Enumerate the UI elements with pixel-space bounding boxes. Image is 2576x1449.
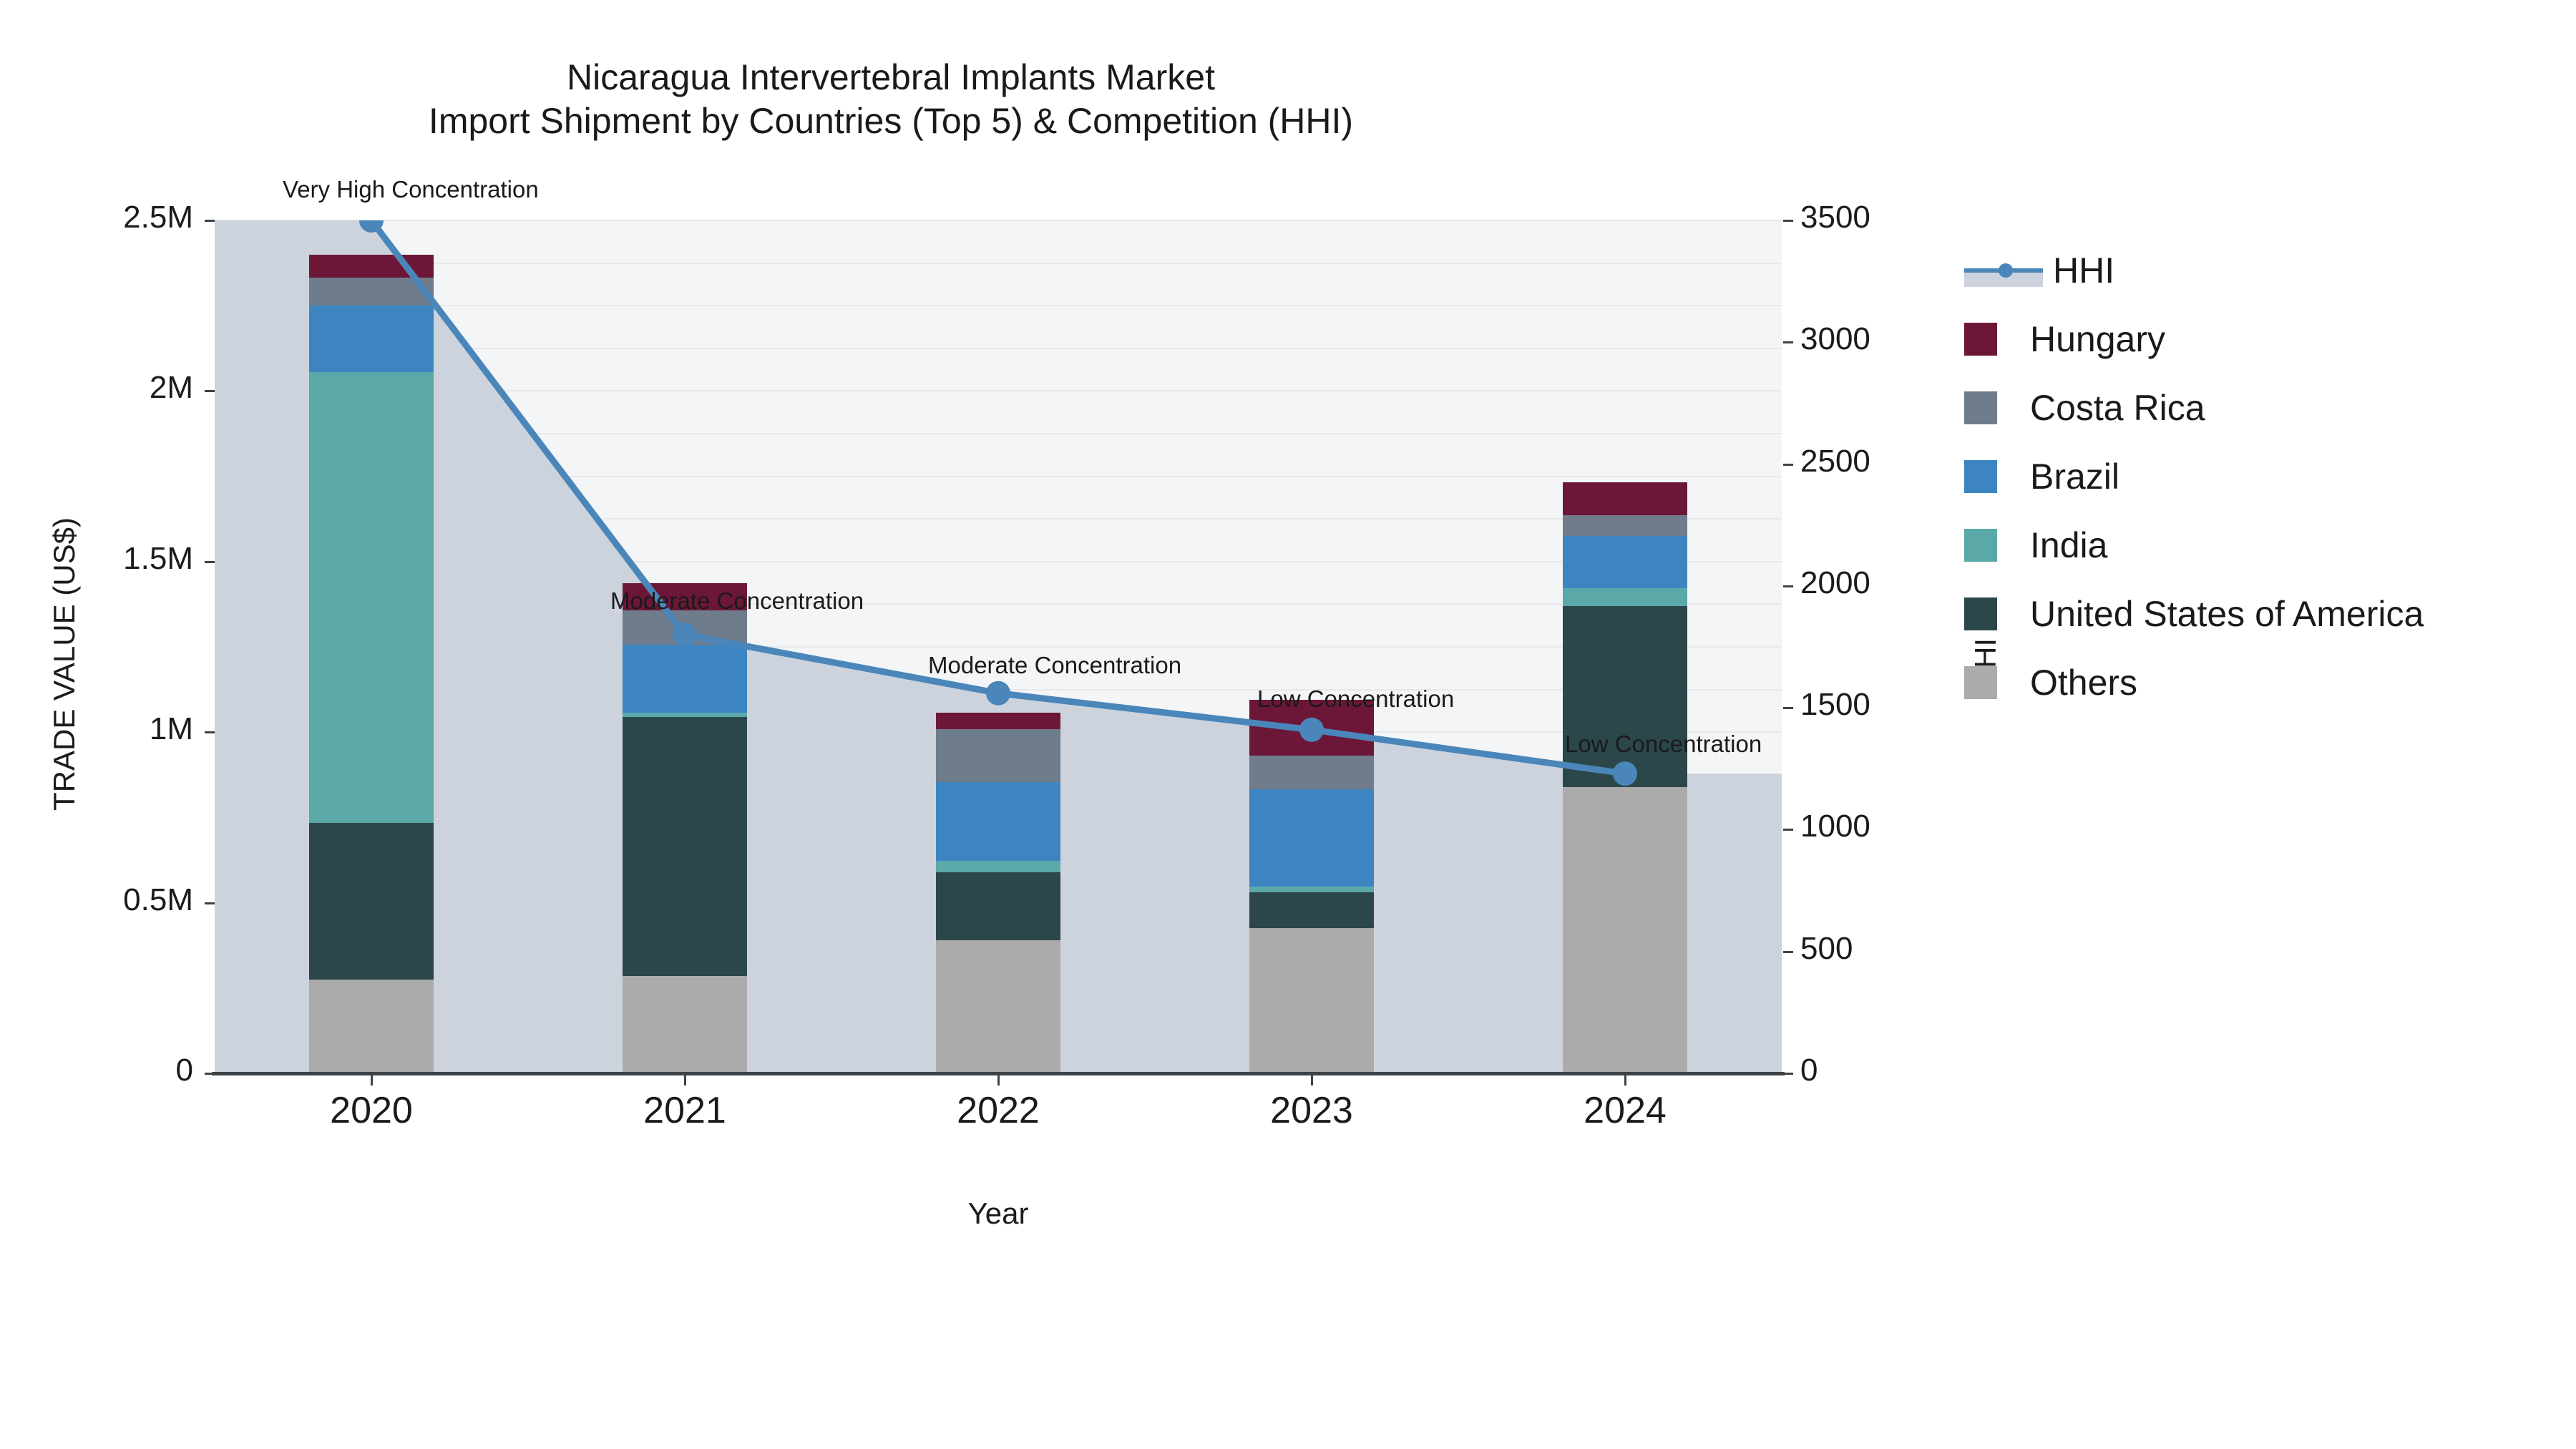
hhi-marker-2022[interactable] <box>986 681 1010 706</box>
y-axis-right-tick-mark <box>1783 585 1793 587</box>
legend-item-united-states-of-america[interactable]: United States of America <box>1964 580 2424 648</box>
y-axis-left-tick-mark <box>205 1073 215 1075</box>
legend-item-label: India <box>2030 525 2107 566</box>
legend-color-swatch-icon <box>1964 323 1997 356</box>
legend-color-swatch-icon <box>1964 460 1997 493</box>
y-axis-right-tick-label: 2000 <box>1800 565 1870 601</box>
y-axis-right-tick-label: 1500 <box>1800 687 1870 723</box>
x-axis-tick-mark <box>1624 1075 1626 1085</box>
chart-legend: HHIHungaryCosta RicaBrazilIndiaUnited St… <box>1964 236 2424 717</box>
y-axis-left-tick-label: 0 <box>29 1053 193 1088</box>
x-axis-tick-label-2023: 2023 <box>1204 1089 1419 1132</box>
annotation-2023: Low Concentration <box>1257 686 1454 713</box>
y-axis-right-tick-label: 2500 <box>1800 444 1870 479</box>
legend-item-label: United States of America <box>2030 593 2424 635</box>
y-axis-left-tick-mark <box>205 561 215 563</box>
hhi-marker-2024[interactable] <box>1613 761 1637 786</box>
annotation-2022: Moderate Concentration <box>928 652 1181 679</box>
x-axis-tick-label-2022: 2022 <box>891 1089 1106 1132</box>
y-axis-right-tick-label: 500 <box>1800 931 1853 967</box>
legend-color-swatch-icon <box>1964 529 1997 562</box>
y-axis-right-tick-mark <box>1783 341 1793 343</box>
y-axis-right-tick-label: 0 <box>1800 1053 1818 1088</box>
x-axis-tick-label-2024: 2024 <box>1518 1089 1732 1132</box>
legend-item-hungary[interactable]: Hungary <box>1964 305 2424 374</box>
annotation-2020: Very High Concentration <box>283 176 539 203</box>
y-axis-right-tick-mark <box>1783 707 1793 709</box>
y-axis-right-tick-label: 3000 <box>1800 321 1870 357</box>
y-axis-left-tick-label: 2.5M <box>29 200 193 235</box>
hhi-marker-2023[interactable] <box>1299 718 1324 742</box>
y-axis-left-tick-mark <box>205 220 215 222</box>
legend-item-brazil[interactable]: Brazil <box>1964 442 2424 511</box>
legend-line-marker-dot <box>1999 263 2013 278</box>
y-axis-right-tick-mark <box>1783 220 1793 222</box>
legend-item-label: HHI <box>2053 250 2114 291</box>
y-axis-title-left: TRADE VALUE (US$) <box>47 342 82 986</box>
annotation-2021: Moderate Concentration <box>610 587 864 615</box>
hhi-line-layer <box>215 220 1782 1073</box>
legend-item-india[interactable]: India <box>1964 511 2424 580</box>
x-axis-tick-mark <box>684 1075 686 1085</box>
y-axis-left-tick-mark <box>205 390 215 392</box>
legend-item-hhi[interactable]: HHI <box>1964 236 2424 305</box>
hhi-line-svg <box>215 220 1782 1073</box>
x-axis-tick-mark <box>371 1075 373 1085</box>
y-axis-left-tick-mark <box>205 902 215 904</box>
legend-item-label: Costa Rica <box>2030 387 2205 429</box>
y-axis-right-tick-mark <box>1783 829 1793 831</box>
chart-title: Nicaragua Intervertebral Implants Market… <box>0 56 1782 143</box>
hhi-marker-2021[interactable] <box>673 623 697 647</box>
y-axis-right-tick-label: 1000 <box>1800 809 1870 844</box>
annotation-2024: Low Concentration <box>1565 731 1762 758</box>
x-axis-tick-label-2020: 2020 <box>264 1089 479 1132</box>
y-axis-right-tick-mark <box>1783 1073 1793 1075</box>
legend-color-swatch-icon <box>1964 597 1997 630</box>
legend-item-others[interactable]: Others <box>1964 648 2424 717</box>
legend-item-label: Hungary <box>2030 318 2165 360</box>
plot-area: Very High ConcentrationModerate Concentr… <box>215 220 1782 1073</box>
legend-line-swatch-icon <box>1964 254 2043 287</box>
y-axis-right-tick-mark <box>1783 464 1793 466</box>
x-axis-tick-label-2021: 2021 <box>577 1089 792 1132</box>
legend-color-swatch-icon <box>1964 391 1997 424</box>
y-axis-right-tick-label: 3500 <box>1800 200 1870 235</box>
legend-color-swatch-icon <box>1964 666 1997 699</box>
x-axis-tick-mark <box>1311 1075 1313 1085</box>
legend-item-costa-rica[interactable]: Costa Rica <box>1964 374 2424 442</box>
legend-item-label: Others <box>2030 662 2137 703</box>
x-axis-title: Year <box>215 1196 1782 1231</box>
chart-title-line-2: Import Shipment by Countries (Top 5) & C… <box>0 99 1782 143</box>
y-axis-right-tick-mark <box>1783 951 1793 953</box>
x-axis-tick-mark <box>997 1075 1000 1085</box>
legend-item-label: Brazil <box>2030 456 2119 497</box>
chart-title-line-1: Nicaragua Intervertebral Implants Market <box>0 56 1782 99</box>
y-axis-left-tick-mark <box>205 731 215 733</box>
